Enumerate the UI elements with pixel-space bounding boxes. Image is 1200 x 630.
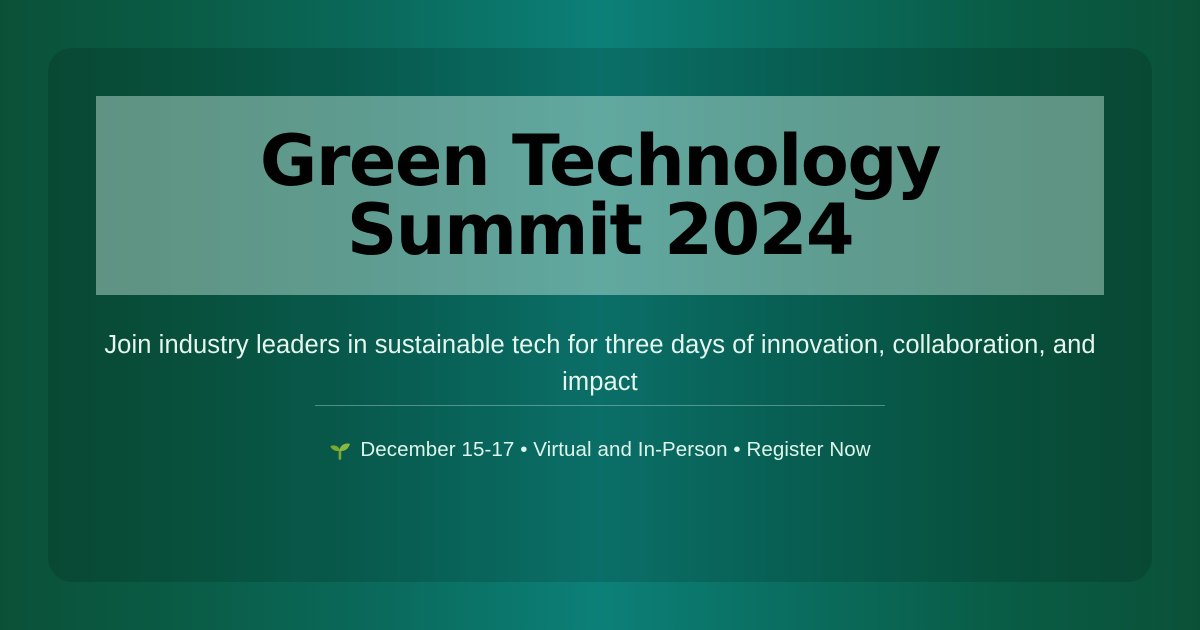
event-meta-text: December 15-17 • Virtual and In-Person •… (360, 438, 870, 462)
seedling-icon (329, 439, 351, 461)
event-meta-line: December 15-17 • Virtual and In-Person •… (0, 438, 1200, 462)
section-divider (315, 405, 885, 406)
title-highlight-band: Green Technology Summit 2024 (96, 96, 1104, 295)
event-promo-banner: Green Technology Summit 2024 Join indust… (0, 0, 1200, 630)
page-title: Green Technology Summit 2024 (236, 127, 964, 264)
banner-subtitle: Join industry leaders in sustainable tec… (96, 327, 1104, 401)
